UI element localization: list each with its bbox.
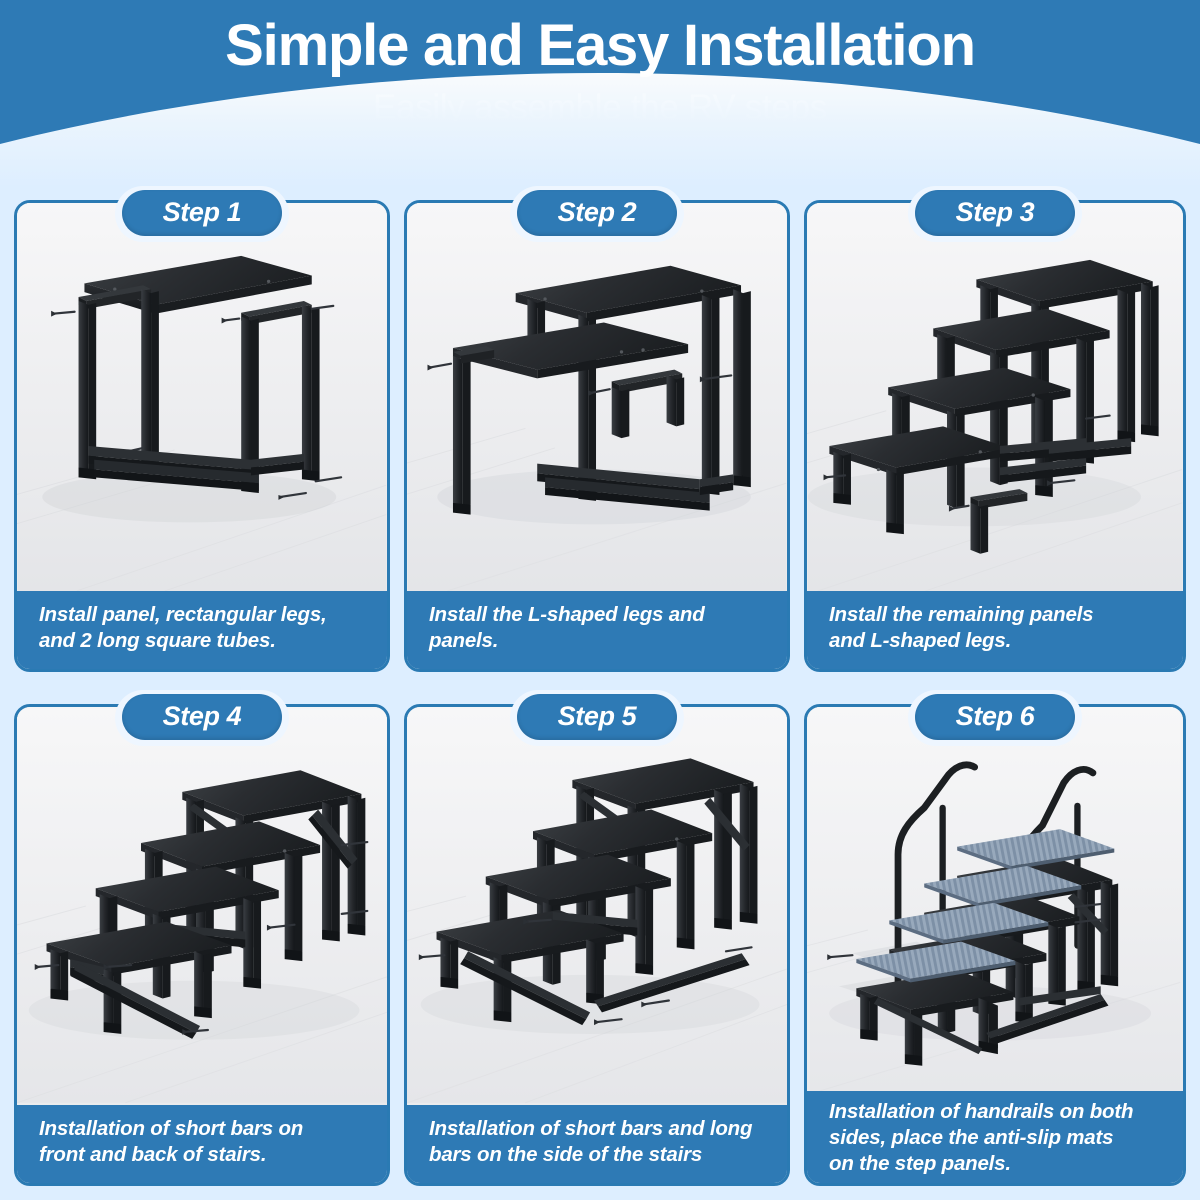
- step-card-5-body: Installation of short bars and long bars…: [404, 704, 790, 1186]
- step-card-4-body: Installation of short bars on front and …: [14, 704, 390, 1186]
- step-card-2-body: Install the L-shaped legs and panels.: [404, 200, 790, 672]
- step-3-badge-wrap: Step 3: [908, 186, 1082, 242]
- step-3-illustration: [807, 203, 1183, 591]
- step-card-6: Installation of handrails on both sides,…: [804, 690, 1186, 1186]
- step-card-2: Install the L-shaped legs and panels. St…: [404, 186, 790, 672]
- step-6-illustration: [807, 707, 1183, 1091]
- step-1-caption: Install panel, rectangular legs, and 2 l…: [17, 591, 387, 669]
- step-card-1-body: Install panel, rectangular legs, and 2 l…: [14, 200, 390, 672]
- step-card-3-body: Install the remaining panels and L-shape…: [804, 200, 1186, 672]
- step-2-illustration: [407, 203, 787, 591]
- header-curve-decoration: [0, 67, 1200, 186]
- step-6-badge-wrap: Step 6: [908, 690, 1082, 746]
- step-card-5: Installation of short bars and long bars…: [404, 690, 790, 1186]
- step-6-badge: Step 6: [915, 694, 1075, 740]
- step-1-badge-wrap: Step 1: [115, 186, 289, 242]
- step-5-illustration: [407, 707, 787, 1105]
- step-2-caption: Install the L-shaped legs and panels.: [407, 591, 787, 669]
- step-6-caption: Installation of handrails on both sides,…: [807, 1091, 1183, 1183]
- step-card-6-body: Installation of handrails on both sides,…: [804, 704, 1186, 1186]
- step-1-illustration: [17, 203, 387, 591]
- page-header: Simple and Easy Installation Easily asse…: [0, 0, 1200, 186]
- step-4-badge-wrap: Step 4: [115, 690, 289, 746]
- step-3-badge: Step 3: [915, 190, 1075, 236]
- step-5-badge-wrap: Step 5: [510, 690, 684, 746]
- step-2-badge: Step 2: [517, 190, 677, 236]
- step-5-caption: Installation of short bars and long bars…: [407, 1105, 787, 1183]
- step-2-badge-wrap: Step 2: [510, 186, 684, 242]
- step-card-3: Install the remaining panels and L-shape…: [804, 186, 1186, 672]
- steps-grid: Install panel, rectangular legs, and 2 l…: [0, 186, 1200, 1200]
- step-4-caption: Installation of short bars on front and …: [17, 1105, 387, 1183]
- step-card-1: Install panel, rectangular legs, and 2 l…: [14, 186, 390, 672]
- step-3-caption: Install the remaining panels and L-shape…: [807, 591, 1183, 669]
- step-4-badge: Step 4: [122, 694, 282, 740]
- step-1-badge: Step 1: [122, 190, 282, 236]
- step-card-4: Installation of short bars on front and …: [14, 690, 390, 1186]
- step-5-badge: Step 5: [517, 694, 677, 740]
- step-4-illustration: [17, 707, 387, 1105]
